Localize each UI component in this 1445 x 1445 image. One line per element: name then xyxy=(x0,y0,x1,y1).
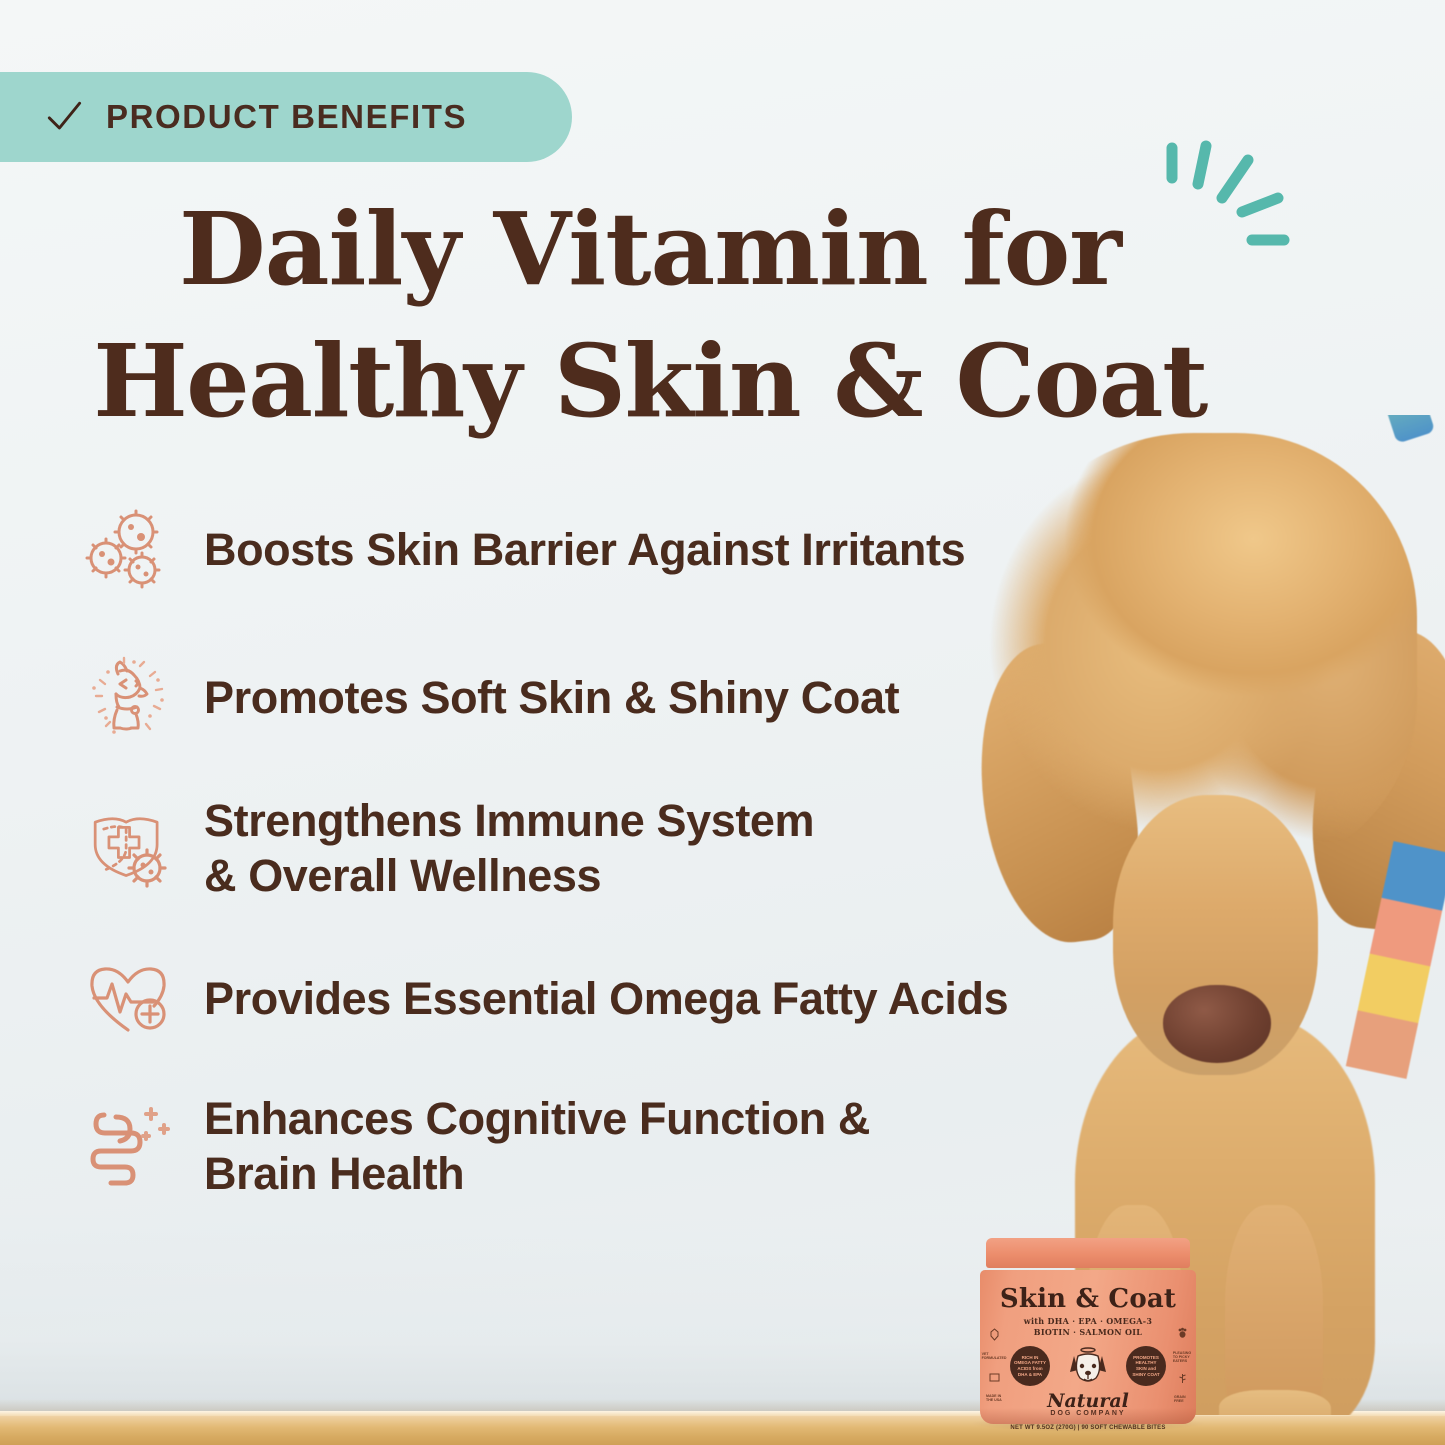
product-subtitle-line-2: BIOTIN · SALMON OIL xyxy=(1034,1327,1142,1337)
jar-lid xyxy=(986,1238,1190,1268)
product-name: Skin & Coat xyxy=(980,1284,1196,1314)
teal-rays-icon xyxy=(1156,136,1306,276)
seal-left: RICH IN OMEGA FATTY ACIDS from DHA & EPA xyxy=(1010,1346,1050,1386)
product-subtitle-line-1: with DHA · EPA · OMEGA-3 xyxy=(1024,1316,1152,1326)
benefits-list: Boosts Skin Barrier Against Irritants xyxy=(78,500,1148,1224)
list-item: Provides Essential Omega Fatty Acids xyxy=(78,950,1148,1050)
dog-nose xyxy=(1163,985,1271,1063)
heart-pulse-icon xyxy=(78,950,178,1050)
french-bulldog-logo-icon xyxy=(1062,1344,1114,1388)
dog-paw-right xyxy=(1219,1390,1331,1415)
badge-label: PRODUCT BENEFITS xyxy=(106,98,467,136)
product-jar: VET FORMULATED MADE IN THE USA PLEASING … xyxy=(980,1238,1196,1424)
bacteria-icon xyxy=(78,500,178,600)
page-title: Daily Vitamin for Healthy Skin & Coat xyxy=(0,183,1300,447)
brand-name: Natural xyxy=(980,1390,1196,1412)
collar-tag xyxy=(1379,415,1436,444)
benefit-text-line-1: Enhances Cognitive Function & xyxy=(204,1093,870,1144)
benefit-text: Enhances Cognitive Function & Brain Heal… xyxy=(204,1092,870,1202)
jar-body: VET FORMULATED MADE IN THE USA PLEASING … xyxy=(980,1270,1196,1424)
benefit-text-line-2: & Overall Wellness xyxy=(204,850,601,901)
wooden-floor xyxy=(0,1411,1445,1445)
shiny-dog-icon xyxy=(78,648,178,748)
headline-line-2: Healthy Skin & Coat xyxy=(0,315,1300,447)
list-item: Enhances Cognitive Function & Brain Heal… xyxy=(78,1092,1148,1202)
list-item: Strengthens Immune System & Overall Well… xyxy=(78,794,1148,904)
gut-sparkle-icon xyxy=(78,1097,178,1197)
benefit-text: Provides Essential Omega Fatty Acids xyxy=(204,972,1008,1027)
check-icon xyxy=(42,95,86,139)
benefit-text: Strengthens Immune System & Overall Well… xyxy=(204,794,814,904)
list-item: Boosts Skin Barrier Against Irritants xyxy=(78,500,1148,600)
dog-leg-right xyxy=(1225,1205,1323,1415)
benefit-text: Boosts Skin Barrier Against Irritants xyxy=(204,523,965,578)
headline-line-1: Daily Vitamin for xyxy=(179,190,1121,308)
net-weight-text: NET WT 9.5OZ (270G) | 90 SOFT CHEWABLE B… xyxy=(980,1425,1196,1431)
list-item: Promotes Soft Skin & Shiny Coat xyxy=(78,648,1148,748)
jar-seals: RICH IN OMEGA FATTY ACIDS from DHA & EPA… xyxy=(980,1344,1196,1388)
benefit-text: Promotes Soft Skin & Shiny Coat xyxy=(204,671,899,726)
benefit-text-line-2: Brain Health xyxy=(204,1148,464,1199)
product-subtitle: with DHA · EPA · OMEGA-3 BIOTIN · SALMON… xyxy=(980,1316,1196,1338)
benefit-text-line-1: Strengthens Immune System xyxy=(204,795,814,846)
shield-immune-icon xyxy=(78,799,178,899)
brand-subtitle: DOG COMPANY xyxy=(980,1410,1196,1417)
seal-right: PROMOTES HEALTHY SKIN and SHINY COAT xyxy=(1126,1346,1166,1386)
product-benefits-badge: PRODUCT BENEFITS xyxy=(0,72,572,162)
